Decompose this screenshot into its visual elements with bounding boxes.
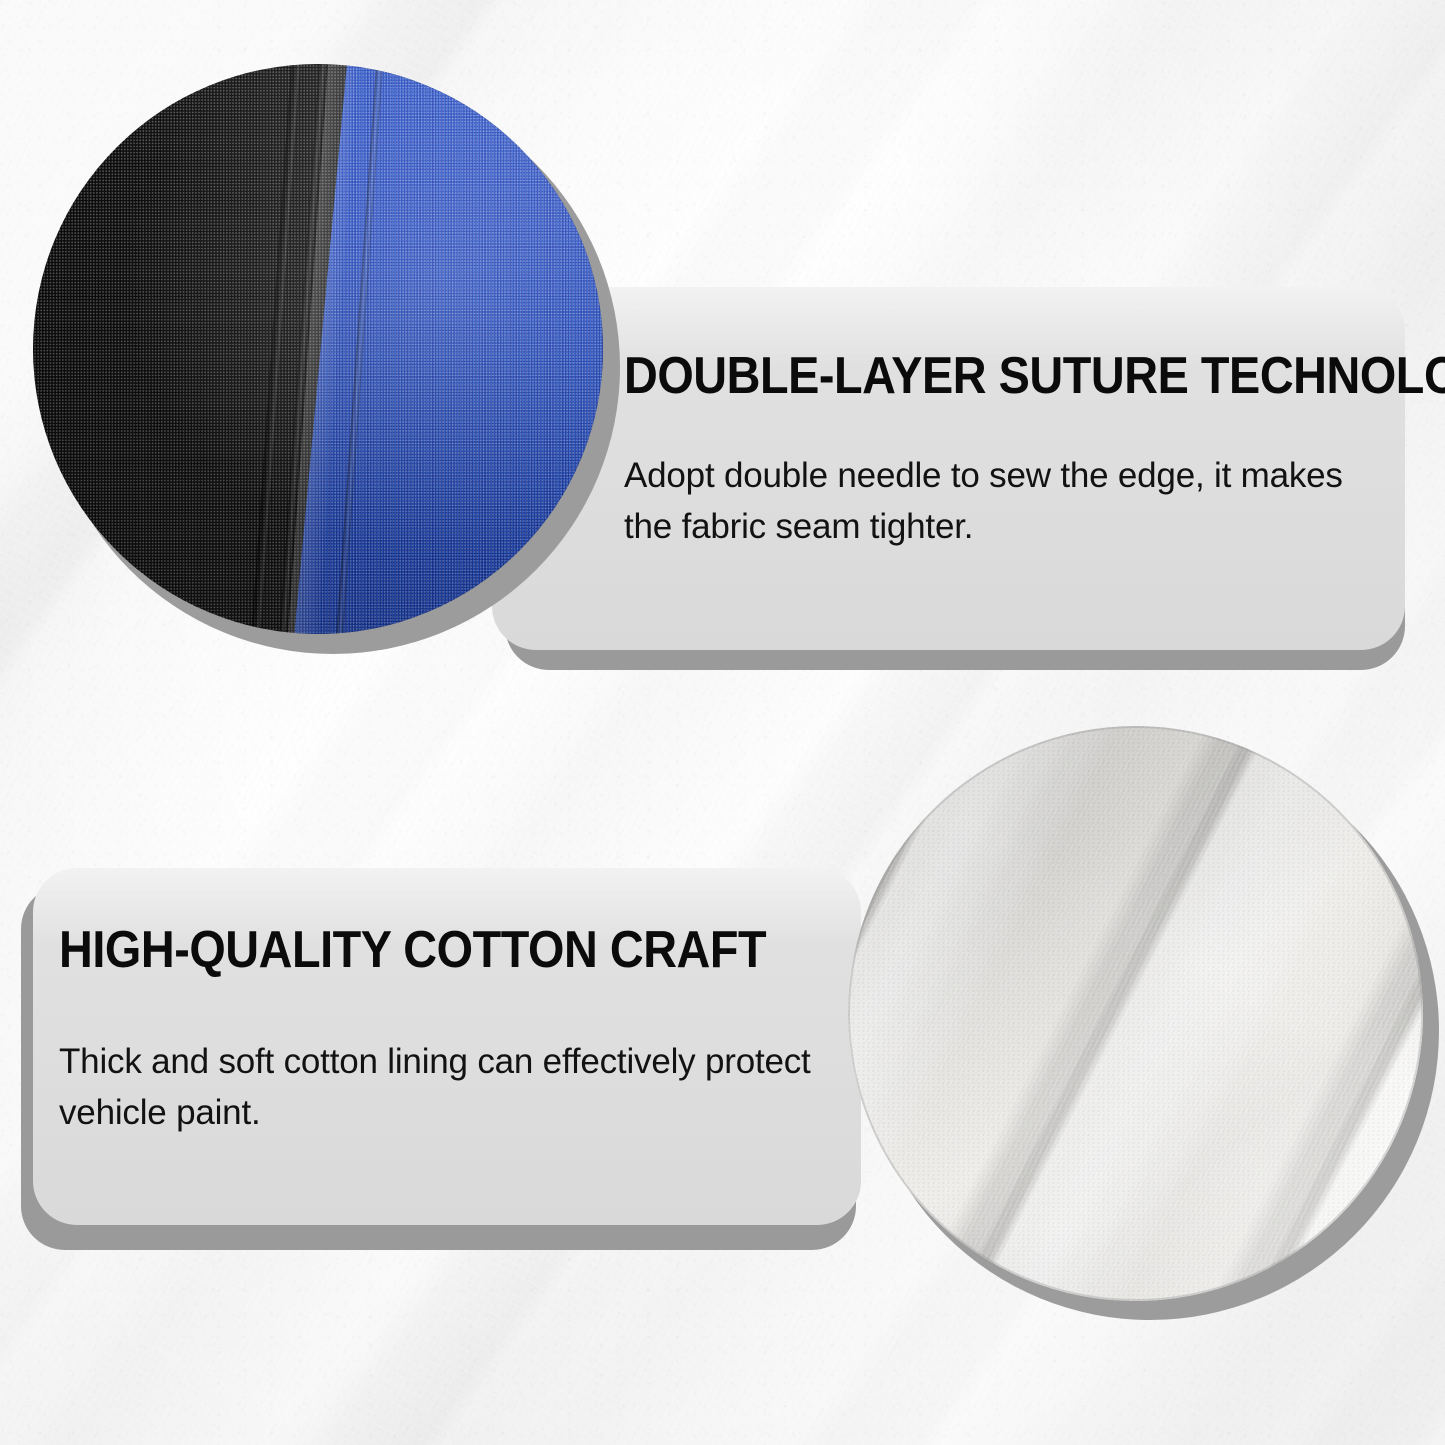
suture-headline: DOUBLE-LAYER SUTURE TECHNOLOGY bbox=[624, 349, 1308, 403]
cotton-card-text-block: HIGH-QUALITY COTTON CRAFT Thick and soft… bbox=[59, 923, 849, 1139]
cotton-headline: HIGH-QUALITY COTTON CRAFT bbox=[59, 923, 770, 977]
stitched-fabric-closeup-photo bbox=[33, 64, 603, 634]
suture-card-text-block: DOUBLE-LAYER SUTURE TECHNOLOGY Adopt dou… bbox=[624, 349, 1384, 553]
infographic-canvas: DOUBLE-LAYER SUTURE TECHNOLOGY Adopt dou… bbox=[0, 0, 1445, 1445]
cotton-lining-closeup-photo bbox=[848, 726, 1423, 1301]
cotton-body-text: Thick and soft cotton lining can effecti… bbox=[59, 1037, 849, 1139]
stitched-fabric-shading bbox=[33, 64, 603, 634]
cotton-circle-rim bbox=[848, 726, 1423, 1301]
suture-body-text: Adopt double needle to sew the edge, it … bbox=[624, 451, 1384, 553]
suture-feature-card: DOUBLE-LAYER SUTURE TECHNOLOGY Adopt dou… bbox=[492, 287, 1405, 650]
cotton-feature-card: HIGH-QUALITY COTTON CRAFT Thick and soft… bbox=[33, 868, 861, 1225]
